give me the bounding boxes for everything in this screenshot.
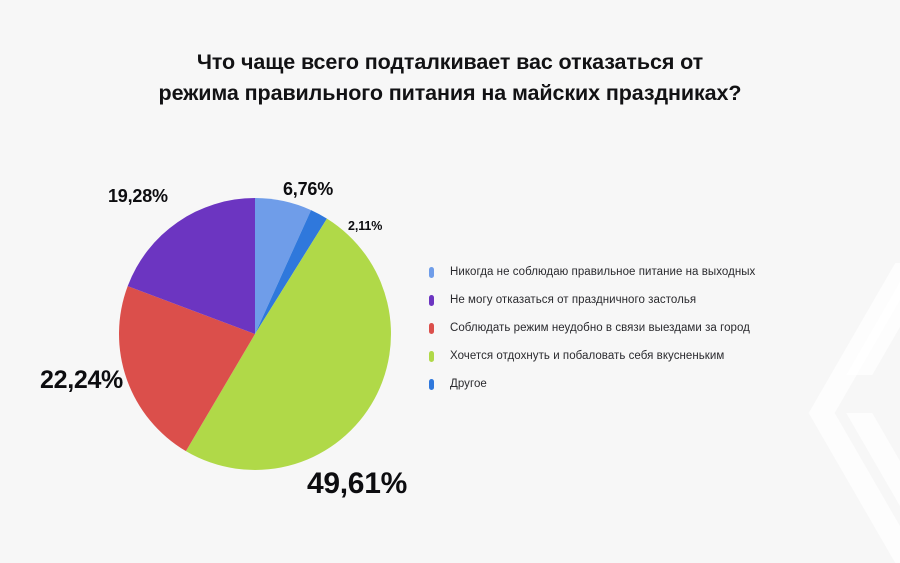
legend-color-swatch [429, 323, 434, 334]
legend-item-label: Хочется отдохнуть и побаловать себя вкус… [450, 350, 724, 362]
legend: Никогда не соблюдаю правильное питание н… [429, 258, 755, 398]
legend-item[interactable]: Хочется отдохнуть и побаловать себя вкус… [429, 342, 755, 370]
legend-item-label: Не могу отказаться от праздничного засто… [450, 294, 696, 306]
pie-svg [118, 197, 392, 471]
legend-color-swatch [429, 351, 434, 362]
slice-label-want-to-relax: 49,61% [307, 467, 407, 501]
legend-item-label: Другое [450, 378, 487, 390]
legend-color-swatch [429, 295, 434, 306]
legend-color-swatch [429, 379, 434, 390]
legend-item[interactable]: Другое [429, 370, 755, 398]
legend-item[interactable]: Не могу отказаться от праздничного засто… [429, 286, 755, 314]
slice-label-out-of-town: 22,24% [40, 366, 123, 395]
legend-item-label: Соблюдать режим неудобно в связи выездам… [450, 322, 750, 334]
pie-chart: 6,76% 2,11% 49,61% 22,24% 19,28% Никогда… [0, 0, 900, 563]
slice-label-never-on-weekends: 6,76% [283, 179, 333, 200]
pie-slice-group [119, 198, 391, 470]
legend-item[interactable]: Никогда не соблюдаю правильное питание н… [429, 258, 755, 286]
legend-item[interactable]: Соблюдать режим неудобно в связи выездам… [429, 314, 755, 342]
legend-color-swatch [429, 267, 434, 278]
legend-item-label: Никогда не соблюдаю правильное питание н… [450, 266, 755, 278]
slice-label-festive-table: 19,28% [108, 186, 168, 207]
slice-label-other: 2,11% [348, 219, 382, 233]
